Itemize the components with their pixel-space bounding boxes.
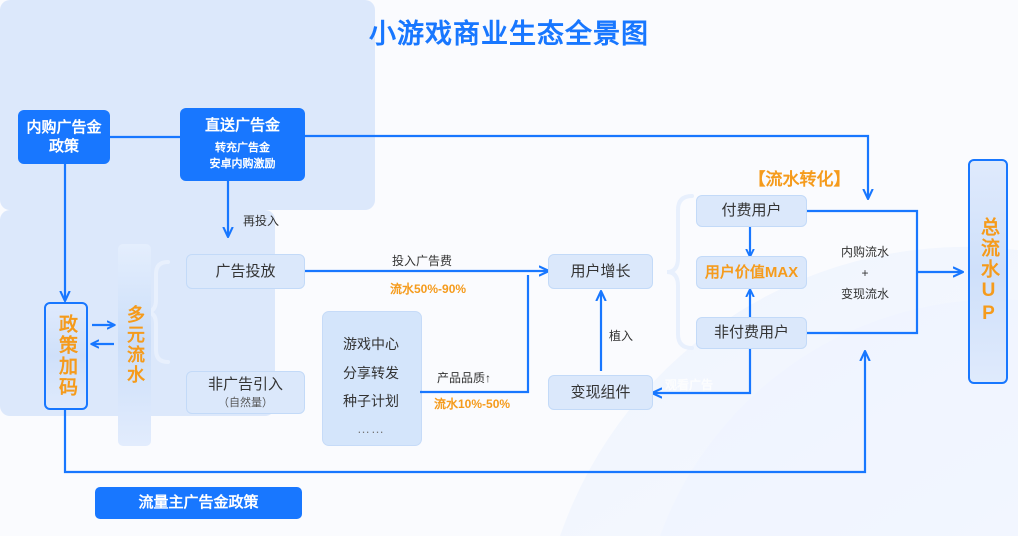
edge-label-ad-spend: 投入广告费 [392,252,452,269]
traffic-owner-policy-label: 流量主广告金政策 [138,493,258,512]
node-user-value-max[interactable]: 用户价值MAX [696,256,807,289]
user-growth-label: 用户增长 [570,262,630,282]
revenue-note-line1: 内购流水 [820,242,910,263]
edge-label-implant: 植入 [609,327,633,344]
node-multi-revenue: 多元流水 [118,244,151,446]
node-non-ad-acquisition[interactable]: 非广告引入 （自然量） [186,371,305,414]
node-user-growth[interactable]: 用户增长 [548,254,653,289]
inapp-policy-line1: 内购广告金 [26,118,101,137]
revenue-note-line2: + [820,263,910,284]
total-revenue-up-label: 总流水UP [978,217,998,326]
node-ad-placement[interactable]: 广告投放 [186,254,305,289]
channel-item-3: 种子计划 [322,387,420,416]
nonpaying-user-label: 非付费用户 [714,323,789,343]
channel-list: 游戏中心 分享转发 种子计划 …… [322,330,420,443]
policy-boost-label: 政策加码 [56,314,76,398]
direct-fund-sub1: 转充广告金 [215,141,270,157]
channel-item-1: 游戏中心 [322,330,420,359]
edge-label-revenue-10-50: 流水10%-50% [434,395,510,412]
non-ad-main: 非广告引入 [208,375,283,395]
channel-item-4: …… [322,416,420,443]
node-total-revenue-up[interactable]: 总流水UP [968,159,1008,384]
node-policy-boost[interactable]: 政策加码 [44,302,88,410]
edge-label-product-quality: 产品品质↑ [437,369,491,386]
inapp-policy-line2: 政策 [49,137,79,156]
revenue-conversion-title: 【流水转化】 [662,165,937,190]
paying-user-label: 付费用户 [721,201,781,221]
direct-fund-sub2: 安卓内购激励 [210,157,276,173]
node-traffic-owner-ad-fund-policy[interactable]: 流量主广告金政策 [95,487,302,519]
revenue-note-line3: 变现流水 [820,284,910,305]
node-direct-ad-fund[interactable]: 直送广告金 转充广告金 安卓内购激励 [180,108,305,181]
node-inapp-ad-fund-policy[interactable]: 内购广告金 政策 [18,110,110,164]
page-title: 小游戏商业生态全景图 [0,12,1018,51]
node-paying-user[interactable]: 付费用户 [696,195,807,227]
edge-label-watch-ad: 观看广告 [665,376,713,393]
edge-label-reinvest: 再投入 [243,212,279,229]
non-ad-sub: （自然量） [218,396,273,410]
user-value-max-label: 用户价值MAX [705,263,798,283]
monetize-component-label: 变现组件 [570,383,630,403]
revenue-composition-note: 内购流水 + 变现流水 [820,242,910,305]
ad-placement-label: 广告投放 [215,262,275,282]
edge-label-revenue-50-90: 流水50%-90% [390,280,466,297]
multi-revenue-label: 多元流水 [125,305,144,385]
direct-fund-title: 直送广告金 [205,116,280,135]
node-nonpaying-user[interactable]: 非付费用户 [696,317,807,349]
node-monetization-component[interactable]: 变现组件 [548,375,653,410]
channel-item-2: 分享转发 [322,359,420,388]
diagram-canvas: 小游戏商业生态全景图 【流水转化】 [0,0,1018,536]
